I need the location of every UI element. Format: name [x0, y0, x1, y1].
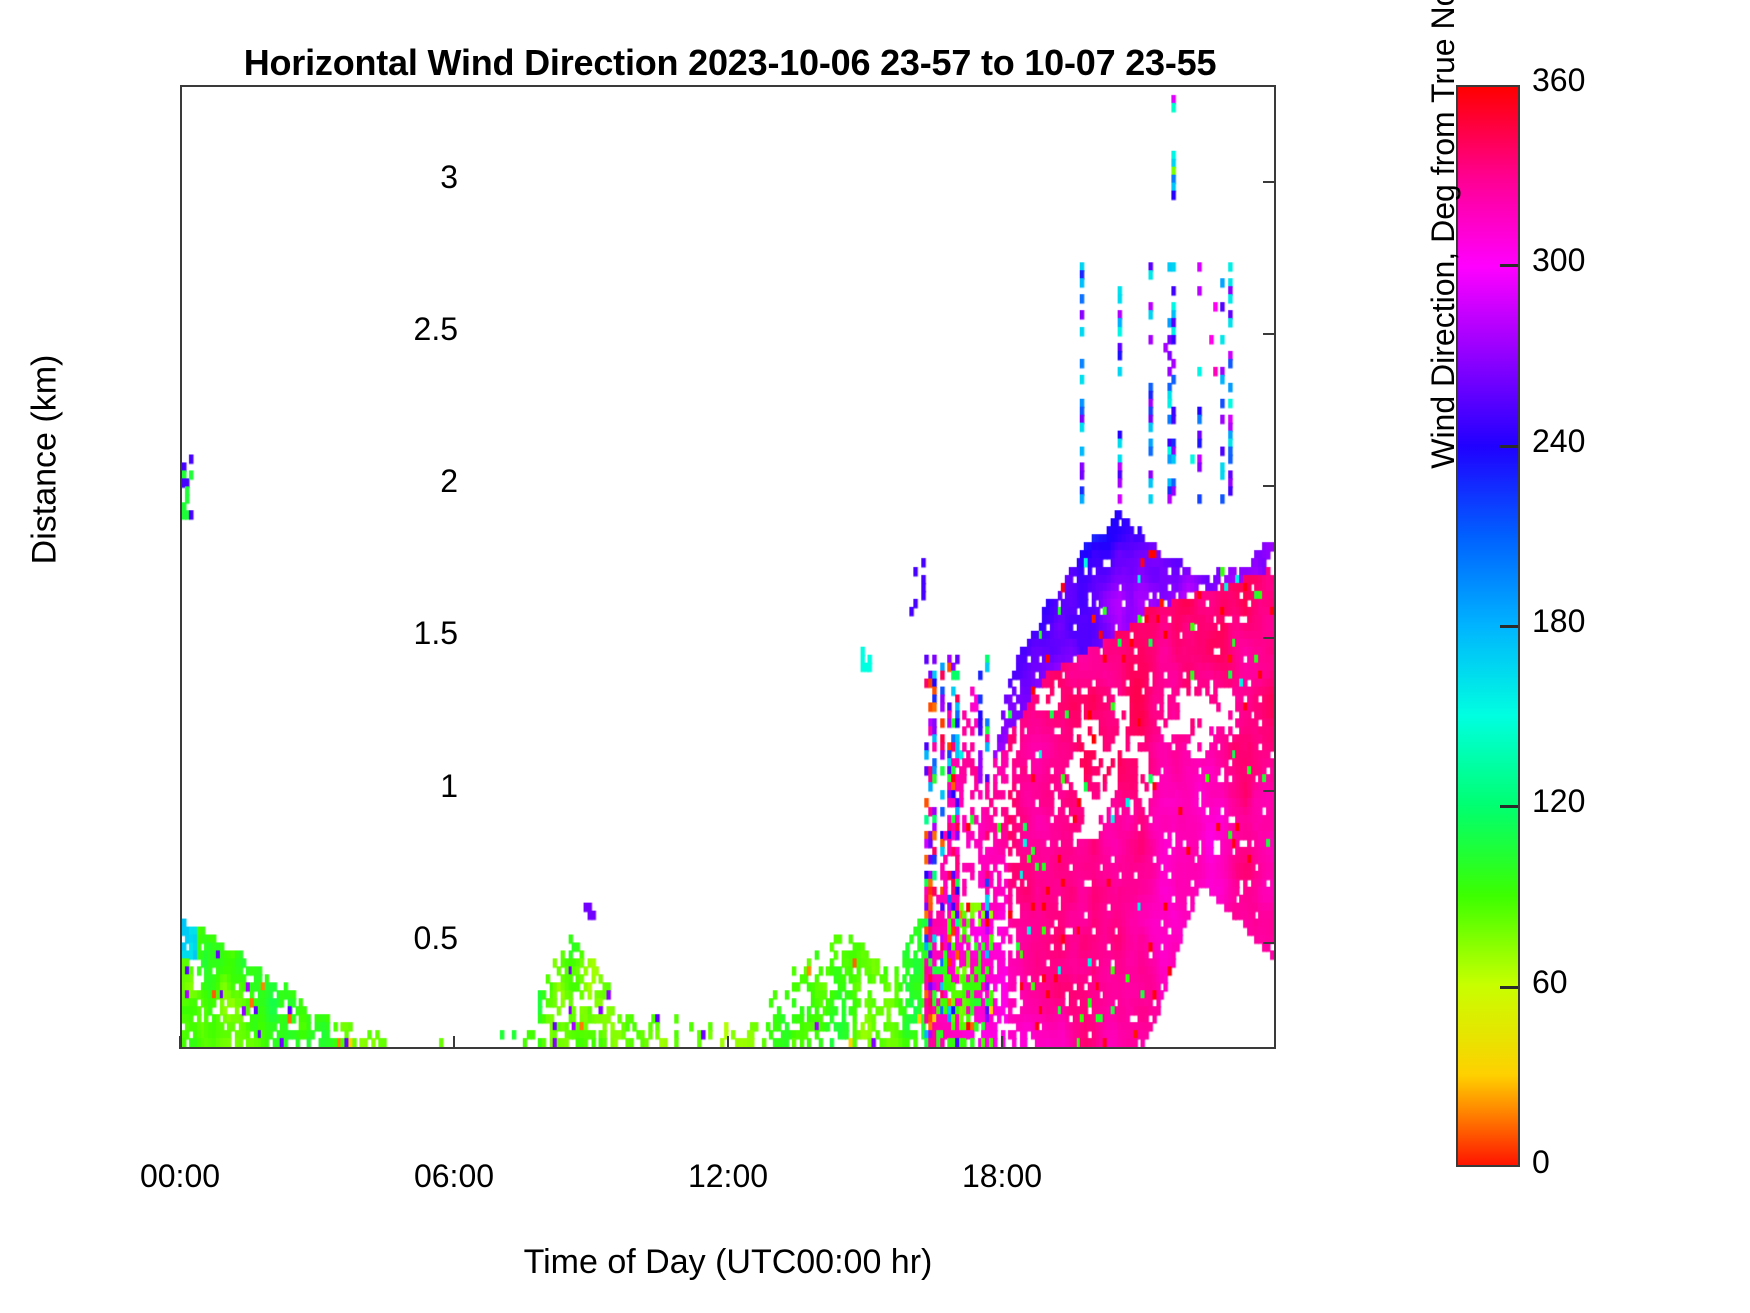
y-tick-mark [1263, 637, 1276, 639]
y-tick-label: 2.5 [338, 313, 458, 345]
chart-title: Horizontal Wind Direction 2023-10-06 23-… [0, 42, 1460, 84]
plot-axes [180, 85, 1276, 1049]
y-tick-mark [1263, 485, 1276, 487]
colorbar-tick-label: 120 [1532, 785, 1682, 817]
heatmap-canvas [182, 87, 1274, 1047]
colorbar-tick-mark [1500, 264, 1518, 267]
y-tick-label: 2 [338, 465, 458, 497]
x-tick-mark [727, 1036, 729, 1049]
x-tick-mark [179, 1036, 181, 1049]
y-tick-label: 1 [338, 770, 458, 802]
x-tick-label: 00:00 [80, 1158, 280, 1195]
x-tick-mark [1001, 1036, 1003, 1049]
colorbar-tick-label: 300 [1532, 244, 1682, 276]
x-tick-label: 18:00 [902, 1158, 1102, 1195]
x-axis-label: Time of Day (UTC00:00 hr) [180, 1243, 1276, 1282]
colorbar-label: Wind Direction, Deg from True North [1425, 0, 1462, 560]
x-tick-mark [453, 1036, 455, 1049]
x-tick-label: 12:00 [628, 1158, 828, 1195]
colorbar-tick-label: 60 [1532, 966, 1682, 998]
colorbar-tick-mark [1500, 445, 1518, 448]
figure-container: Horizontal Wind Direction 2023-10-06 23-… [0, 0, 1750, 1313]
colorbar-tick-mark [1500, 986, 1518, 989]
y-tick-label: 0.5 [338, 922, 458, 954]
colorbar-tick-mark [1500, 805, 1518, 808]
y-tick-label: 3 [338, 161, 458, 193]
y-tick-mark [1263, 333, 1276, 335]
y-axis-label: Distance (km) [26, 200, 65, 720]
colorbar-tick-label: 360 [1532, 64, 1682, 96]
y-tick-mark [1263, 790, 1276, 792]
colorbar-tick-label: 0 [1532, 1146, 1682, 1178]
colorbar-tick-label: 240 [1532, 425, 1682, 457]
y-tick-label: 1.5 [338, 617, 458, 649]
colorbar-tick-label: 180 [1532, 605, 1682, 637]
x-tick-label: 06:00 [354, 1158, 554, 1195]
y-tick-mark [1263, 942, 1276, 944]
y-tick-mark [1263, 181, 1276, 183]
colorbar-tick-mark [1500, 625, 1518, 628]
